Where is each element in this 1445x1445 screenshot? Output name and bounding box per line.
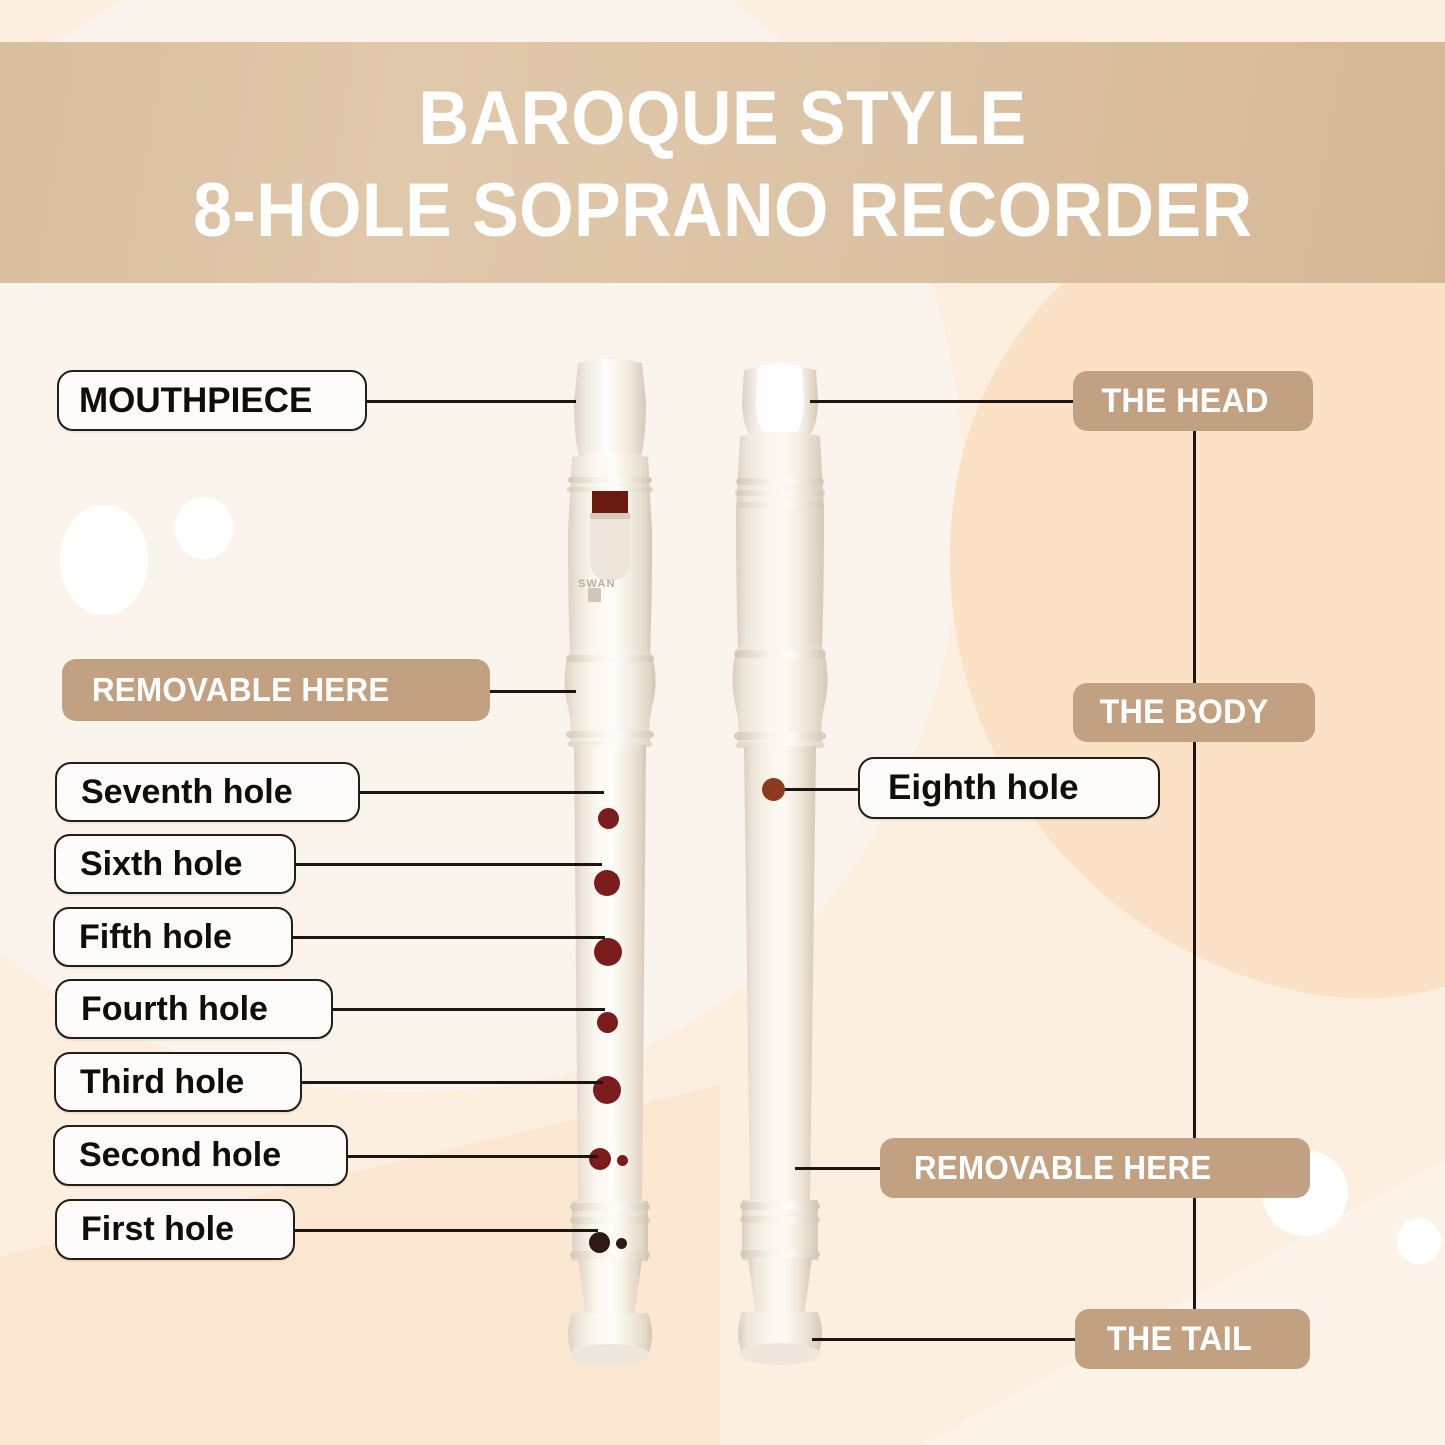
label-removable-here-left-text: REMOVABLE HERE [92,671,390,709]
label-the-head-text: THE HEAD [1101,382,1268,421]
leader-line-the-tail [812,1338,1077,1341]
decorative-circle [175,497,233,559]
leader-line-fifth-hole [289,936,605,939]
finger-hole-1b [616,1238,627,1249]
label-eighth-hole[interactable]: Eighth hole [858,757,1160,819]
label-removable-here-left[interactable]: REMOVABLE HERE [62,659,490,721]
label-removable-here-right-text: REMOVABLE HERE [914,1149,1212,1187]
label-the-tail-text: THE TAIL [1107,1320,1252,1359]
leader-line-sixth-hole [292,863,602,866]
brand-mark: SWAN [578,578,616,590]
label-second-hole[interactable]: Second hole [53,1125,348,1186]
header-title-line-1: BAROQUE STYLE [418,81,1026,157]
finger-hole-5 [594,938,622,966]
leader-line-first-hole [293,1229,598,1232]
label-third-hole-text: Third hole [80,1063,244,1102]
decorative-circle [60,505,148,615]
finger-hole-1a [589,1232,610,1253]
leader-line-third-hole [298,1081,603,1084]
label-the-tail[interactable]: THE TAIL [1075,1309,1310,1369]
label-the-head[interactable]: THE HEAD [1073,371,1313,431]
recorder-back-view [690,360,870,1395]
label-the-body-text: THE BODY [1099,693,1268,732]
infographic-canvas: BAROQUE STYLE 8-HOLE SOPRANO RECORDER [0,0,1445,1445]
finger-hole-2a [589,1148,611,1170]
label-sixth-hole[interactable]: Sixth hole [54,834,296,894]
finger-hole-2b [617,1155,628,1166]
thumb-hole-8 [762,778,785,801]
label-second-hole-text: Second hole [79,1136,281,1175]
leader-line-second-hole [344,1155,598,1158]
spine-body-to-removable [1193,740,1196,1138]
finger-hole-7 [598,808,619,829]
leader-line-removable-2 [795,1167,880,1170]
leader-line-removable [486,690,576,693]
leader-line-seventh-hole [356,791,604,794]
finger-hole-4 [597,1012,618,1033]
label-third-hole[interactable]: Third hole [54,1052,302,1112]
label-removable-here-right[interactable]: REMOVABLE HERE [880,1138,1310,1198]
label-mouthpiece-text: MOUTHPIECE [79,381,312,421]
label-seventh-hole[interactable]: Seventh hole [55,762,360,822]
label-fifth-hole[interactable]: Fifth hole [53,907,293,967]
label-seventh-hole-text: Seventh hole [81,773,293,812]
spine-removable-to-tail [1193,1196,1196,1310]
label-the-body[interactable]: THE BODY [1073,683,1315,742]
label-first-hole-text: First hole [81,1210,234,1249]
label-mouthpiece[interactable]: MOUTHPIECE [57,370,367,431]
leader-line-mouthpiece [363,400,576,403]
spine-head-to-body [1193,430,1196,712]
decorative-circle [1397,1218,1441,1264]
label-first-hole[interactable]: First hole [55,1199,295,1260]
leader-line-eighth-hole [785,788,860,791]
leader-line-fourth-hole [327,1008,605,1011]
label-fifth-hole-text: Fifth hole [79,918,232,957]
label-fourth-hole[interactable]: Fourth hole [55,979,333,1039]
label-fourth-hole-text: Fourth hole [81,990,268,1029]
header-banner: BAROQUE STYLE 8-HOLE SOPRANO RECORDER [0,42,1445,283]
label-eighth-hole-text: Eighth hole [888,768,1079,808]
leader-line-the-head [810,400,1075,403]
finger-hole-6 [594,870,620,896]
label-sixth-hole-text: Sixth hole [80,845,242,884]
header-title-line-2: 8-HOLE SOPRANO RECORDER [193,173,1252,249]
